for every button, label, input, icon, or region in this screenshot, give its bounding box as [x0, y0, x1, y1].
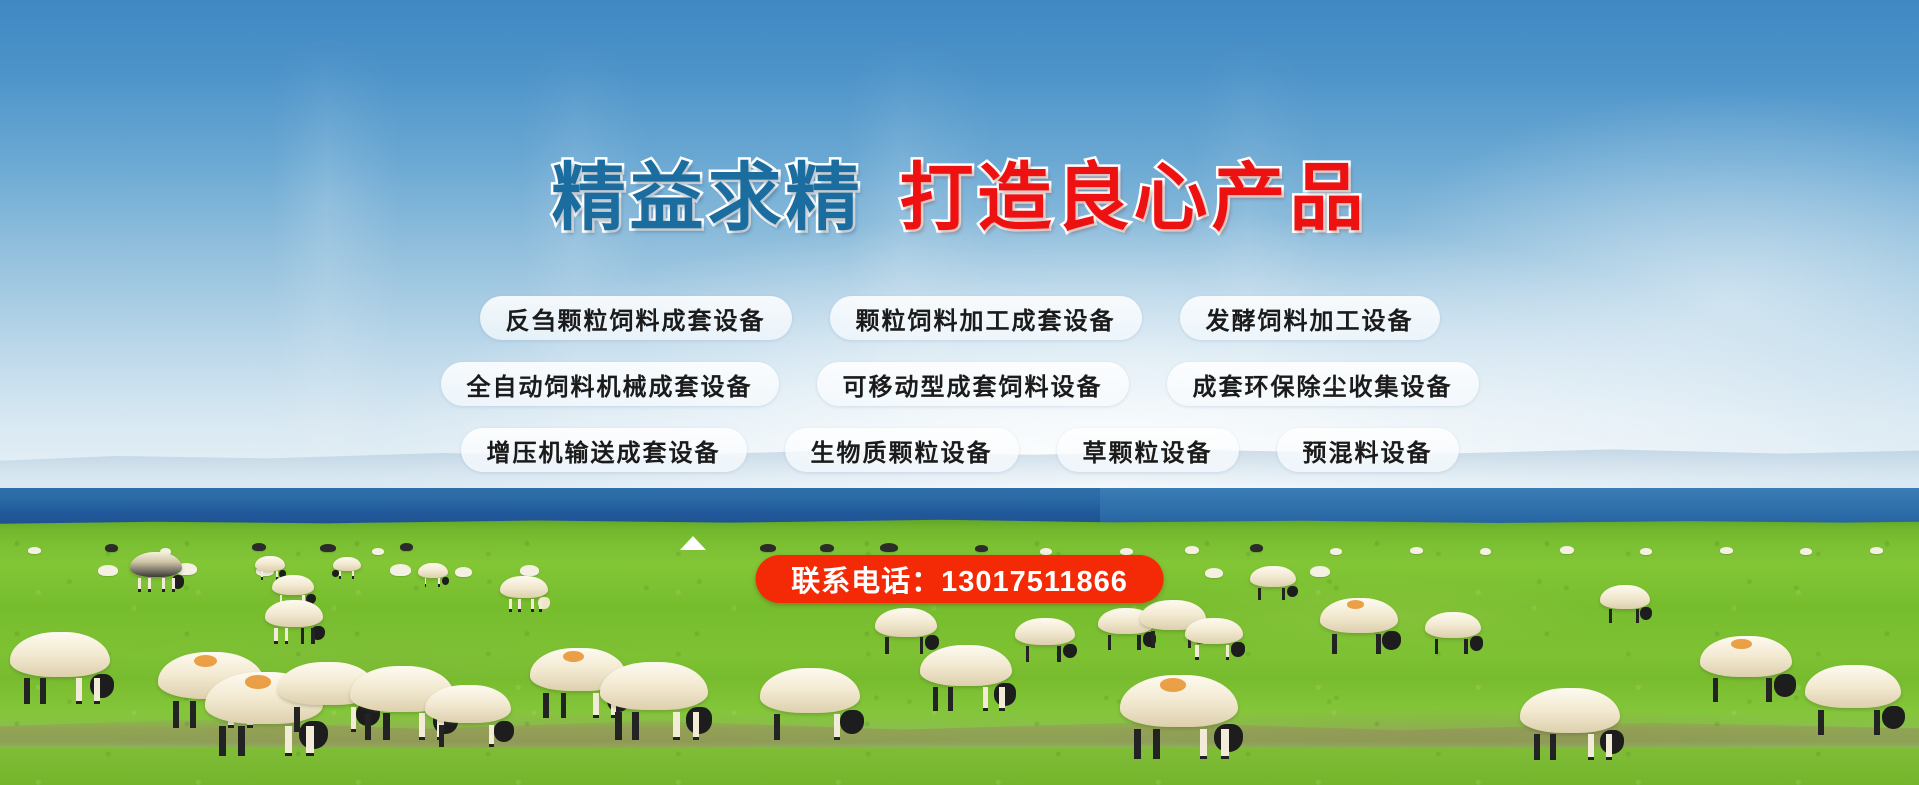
product-pill[interactable]: 反刍颗粒饲料成套设备 — [480, 296, 792, 340]
product-row-3: 增压机输送成套设备 生物质颗粒设备 草颗粒设备 预混料设备 — [0, 428, 1919, 472]
product-pill[interactable]: 预混料设备 — [1277, 428, 1459, 472]
headline-red-text: 打造良心产品 — [900, 156, 1368, 239]
banner-headline: 精益求精打造良心产品 — [0, 155, 1919, 241]
promo-banner: 精益求精打造良心产品 反刍颗粒饲料成套设备 颗粒饲料加工成套设备 发酵饲料加工设… — [0, 0, 1919, 785]
product-pill[interactable]: 草颗粒设备 — [1057, 428, 1239, 472]
product-pill[interactable]: 增压机输送成套设备 — [461, 428, 747, 472]
product-pill[interactable]: 颗粒饲料加工成套设备 — [830, 296, 1142, 340]
product-pill[interactable]: 成套环保除尘收集设备 — [1167, 362, 1479, 406]
product-pill[interactable]: 可移动型成套饲料设备 — [817, 362, 1129, 406]
product-row-2: 全自动饲料机械成套设备 可移动型成套饲料设备 成套环保除尘收集设备 — [0, 362, 1919, 406]
product-pill[interactable]: 生物质颗粒设备 — [785, 428, 1019, 472]
headline-blue-text: 精益求精 — [552, 156, 864, 239]
product-row-1: 反刍颗粒饲料成套设备 颗粒饲料加工成套设备 发酵饲料加工设备 — [0, 296, 1919, 340]
product-category-list: 反刍颗粒饲料成套设备 颗粒饲料加工成套设备 发酵饲料加工设备 全自动饲料机械成套… — [0, 296, 1919, 494]
product-pill[interactable]: 全自动饲料机械成套设备 — [441, 362, 779, 406]
contact-phone-badge[interactable]: 联系电话：13017511866 — [755, 555, 1164, 603]
product-pill[interactable]: 发酵饲料加工设备 — [1180, 296, 1440, 340]
